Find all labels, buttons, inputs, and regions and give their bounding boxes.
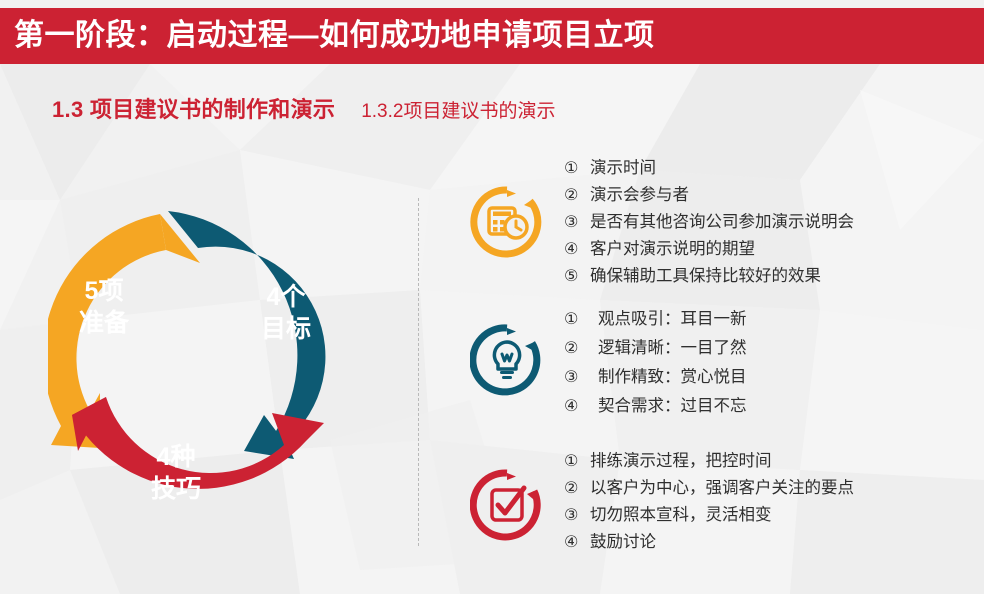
list-marker: ⑤ [564, 264, 590, 290]
list-marker: ③ [564, 210, 590, 236]
list-text: 排练演示过程，把控时间 [590, 448, 772, 475]
page-title: 第一阶段：启动过程—如何成功地申请项目立项 [14, 19, 655, 53]
list-item: ② 逻辑清晰：一目了然 [564, 334, 747, 363]
list-text: 切勿照本宣科，灵活相变 [590, 502, 772, 529]
section-heading: 1.3 项目建议书的制作和演示 [52, 92, 335, 124]
list-marker: ④ [564, 393, 598, 421]
list-marker: ② [564, 475, 590, 502]
list-item: ③ 制作精致：赏心悦目 [564, 363, 747, 392]
content-group-presentation-goals: ① 观点吸引：耳目一新 ② 逻辑清晰：一目了然 ③ 制作精致：赏心悦目 ④ 契合… [470, 305, 747, 421]
cycle-label-skills-line2: 技巧 [151, 475, 201, 503]
list-presentation-skills: ① 排练演示过程，把控时间 ② 以客户为中心，强调客户关注的要点 ③ 切勿照本宣… [564, 448, 854, 556]
list-item: ③ 切勿照本宣科，灵活相变 [564, 502, 854, 529]
list-marker: ② [564, 183, 590, 209]
list-marker: ① [564, 448, 590, 475]
list-text: 确保辅助工具保持比较好的效果 [590, 263, 821, 289]
list-text: 客户对演示说明的期望 [590, 236, 755, 262]
list-text: 演示会参与者 [590, 182, 689, 208]
list-text: 是否有其他咨询公司参加演示说明会 [590, 209, 854, 235]
list-text: 演示时间 [590, 155, 656, 181]
cycle-diagram: 5项 准备 4个 目标 4种 技巧 [48, 183, 388, 533]
list-item: ② 演示会参与者 [564, 182, 854, 209]
list-presentation-goals: ① 观点吸引：耳目一新 ② 逻辑清晰：一目了然 ③ 制作精致：赏心悦目 ④ 契合… [564, 305, 747, 421]
list-text: 契合需求：过目不忘 [598, 392, 747, 420]
list-item: ② 以客户为中心，强调客户关注的要点 [564, 475, 854, 502]
list-marker: ② [564, 335, 598, 363]
list-text: 观点吸引：耳目一新 [598, 305, 747, 333]
list-marker: ③ [564, 502, 590, 529]
subsection-heading: 1.3.2项目建议书的演示 [361, 96, 555, 123]
list-item: ① 观点吸引：耳目一新 [564, 305, 747, 334]
slide-canvas: 第一阶段：启动过程—如何成功地申请项目立项 1.3 项目建议书的制作和演示 1.… [0, 0, 984, 594]
checkbox-check-icon [470, 468, 544, 542]
list-item: ③ 是否有其他咨询公司参加演示说明会 [564, 209, 854, 236]
list-marker: ④ [564, 237, 590, 263]
list-presentation-basics: ① 演示时间 ② 演示会参与者 ③ 是否有其他咨询公司参加演示说明会 ④ 客户对… [564, 155, 854, 290]
lightbulb-icon [470, 323, 544, 397]
list-text: 制作精致：赏心悦目 [598, 363, 747, 391]
vertical-divider [418, 198, 419, 546]
list-marker: ④ [564, 529, 590, 556]
header-banner: 第一阶段：启动过程—如何成功地申请项目立项 [0, 8, 984, 64]
list-item: ④ 客户对演示说明的期望 [564, 236, 854, 263]
list-item: ④ 鼓励讨论 [564, 529, 854, 556]
list-text: 逻辑清晰：一目了然 [598, 334, 747, 362]
list-marker: ③ [564, 364, 598, 392]
cycle-segment-prepare[interactable]: 5项 准备 [48, 214, 200, 448]
list-item: ④ 契合需求：过目不忘 [564, 392, 747, 421]
cycle-label-goals-line1: 4个 [267, 283, 307, 311]
cycle-label-prepare-line2: 准备 [79, 309, 130, 337]
list-item: ⑤ 确保辅助工具保持比较好的效果 [564, 263, 854, 290]
list-marker: ① [564, 306, 598, 334]
list-marker: ① [564, 156, 590, 182]
content-group-presentation-basics: ① 演示时间 ② 演示会参与者 ③ 是否有其他咨询公司参加演示说明会 ④ 客户对… [470, 155, 854, 290]
cycle-label-goals-line2: 目标 [261, 315, 311, 343]
calendar-clock-icon [470, 185, 544, 259]
list-item: ① 演示时间 [564, 155, 854, 182]
list-item: ① 排练演示过程，把控时间 [564, 448, 854, 475]
content-group-presentation-skills: ① 排练演示过程，把控时间 ② 以客户为中心，强调客户关注的要点 ③ 切勿照本宣… [470, 448, 854, 556]
list-text: 以客户为中心，强调客户关注的要点 [590, 475, 854, 502]
subtitle-row: 1.3 项目建议书的制作和演示 1.3.2项目建议书的演示 [52, 92, 555, 124]
list-text: 鼓励讨论 [590, 529, 656, 556]
cycle-label-prepare-line1: 5项 [85, 277, 124, 305]
cycle-label-skills-line1: 4种 [157, 443, 196, 471]
